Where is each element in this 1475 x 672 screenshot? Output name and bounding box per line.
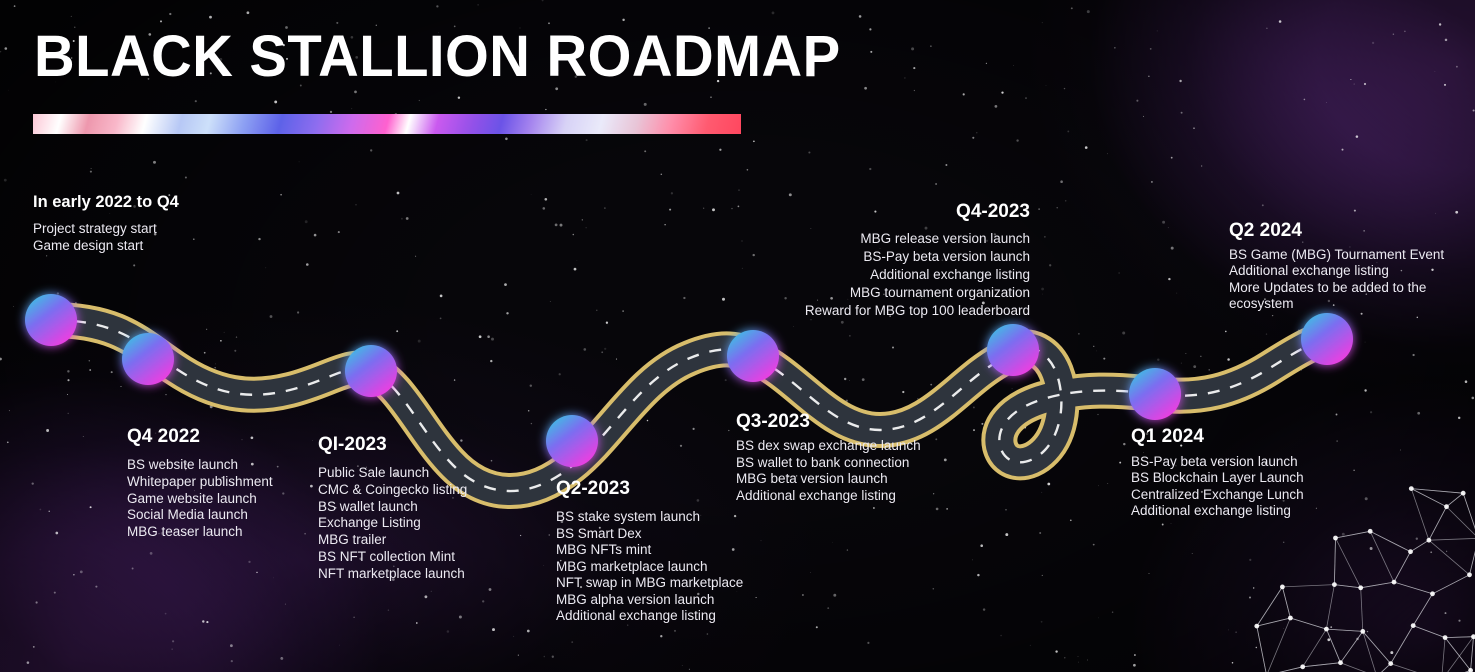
node-q2-2023[interactable] [546,415,598,467]
node-q1-2024[interactable] [1129,368,1181,420]
milestone-item: Game design start [33,238,179,255]
milestone-q4-2023: Q4-2023 MBG release version launchBS-Pay… [762,201,1030,320]
milestone-q4-2022-items: BS website launchWhitepaper publishmentG… [127,457,273,541]
milestone-q4-2022-heading: Q4 2022 [127,426,273,448]
milestone-q1-2024-items: BS-Pay beta version launchBS Blockchain … [1131,454,1304,519]
milestone-intro: In early 2022 to Q4 Project strategy sta… [33,193,179,254]
milestone-q3-2023: Q3-2023 BS dex swap exchange launchBS wa… [736,411,921,504]
milestone-item: Whitepaper publishment [127,474,273,491]
milestone-intro-items: Project strategy startGame design start [33,221,179,254]
milestone-item: MBG marketplace launch [556,559,743,576]
milestone-item: MBG beta version launch [736,471,921,488]
node-q4-2022[interactable] [122,333,174,385]
milestone-item: Game website launch [127,491,273,508]
milestone-item: Reward for MBG top 100 leaderboard [762,302,1030,320]
milestone-item: NFT marketplace launch [318,566,467,583]
milestone-item: Additional exchange listing [1131,503,1304,519]
milestone-item: Centralized Exchange Lunch [1131,487,1304,503]
milestone-item: Exchange Listing [318,515,467,532]
milestone-item: BS NFT collection Mint [318,549,467,566]
milestone-item: MBG alpha version launch [556,592,743,609]
milestone-item: BS dex swap exchange launch [736,438,921,455]
milestone-item: BS Blockchain Layer Launch [1131,470,1304,486]
milestone-item: MBG release version launch [762,230,1030,248]
milestone-q4-2023-items: MBG release version launchBS-Pay beta ve… [762,230,1030,320]
milestone-item: BS website launch [127,457,273,474]
milestone-q2-2023: Q2-2023 BS stake system launchBS Smart D… [556,478,743,625]
page-title: BLACK STALLION ROADMAP [34,28,841,86]
milestone-item: Additional exchange listing [736,488,921,505]
milestone-q2-2024-heading: Q2 2024 [1229,220,1461,242]
milestone-intro-heading: In early 2022 to Q4 [33,193,179,212]
roadmap-canvas: In early 2022 to Q4 Project strategy sta… [0,0,1475,672]
milestone-item: BS-Pay beta version launch [762,248,1030,266]
milestone-q2-2024-items: BS Game (MBG) Tournament EventAdditional… [1229,247,1461,312]
milestone-q3-2023-heading: Q3-2023 [736,411,921,433]
milestone-item: MBG trailer [318,532,467,549]
milestone-q4-2022: Q4 2022 BS website launchWhitepaper publ… [127,426,273,541]
node-q4-2023[interactable] [987,324,1039,376]
milestone-item: More Updates to be added to the ecosyste… [1229,280,1461,313]
node-start[interactable] [25,294,77,346]
milestone-item: Additional exchange listing [762,266,1030,284]
milestone-q2-2024: Q2 2024 BS Game (MBG) Tournament EventAd… [1229,220,1461,312]
milestone-q1-2024: Q1 2024 BS-Pay beta version launchBS Blo… [1131,426,1304,519]
milestone-q1-2023-items: Public Sale launchCMC & Coingecko listin… [318,465,467,583]
milestone-item: BS wallet launch [318,499,467,516]
milestone-item: Public Sale launch [318,465,467,482]
milestone-item: BS Smart Dex [556,526,743,543]
milestone-q2-2023-items: BS stake system launchBS Smart DexMBG NF… [556,509,743,625]
milestone-item: BS-Pay beta version launch [1131,454,1304,470]
milestone-q3-2023-items: BS dex swap exchange launchBS wallet to … [736,438,921,504]
milestone-item: CMC & Coingecko listing [318,482,467,499]
milestone-item: BS stake system launch [556,509,743,526]
gradient-accent-bar [33,114,741,134]
node-q2-2024[interactable] [1301,313,1353,365]
milestone-q2-2023-heading: Q2-2023 [556,478,743,500]
milestone-q1-2024-heading: Q1 2024 [1131,426,1304,448]
milestone-item: MBG tournament organization [762,284,1030,302]
milestone-q1-2023: QI-2023 Public Sale launchCMC & Coingeck… [318,434,467,583]
milestone-item: Additional exchange listing [556,608,743,625]
milestone-item: MBG NFTs mint [556,542,743,559]
milestone-item: BS wallet to bank connection [736,455,921,472]
milestone-item: BS Game (MBG) Tournament Event [1229,247,1461,263]
milestone-q4-2023-heading: Q4-2023 [762,201,1030,223]
milestone-item: Social Media launch [127,507,273,524]
node-q1-2023[interactable] [345,345,397,397]
milestone-q1-2023-heading: QI-2023 [318,434,467,456]
node-q3-2023[interactable] [727,330,779,382]
milestone-item: NFT swap in MBG marketplace [556,575,743,592]
milestone-item: MBG teaser launch [127,524,273,541]
milestone-item: Project strategy start [33,221,179,238]
milestone-item: Additional exchange listing [1229,263,1461,279]
